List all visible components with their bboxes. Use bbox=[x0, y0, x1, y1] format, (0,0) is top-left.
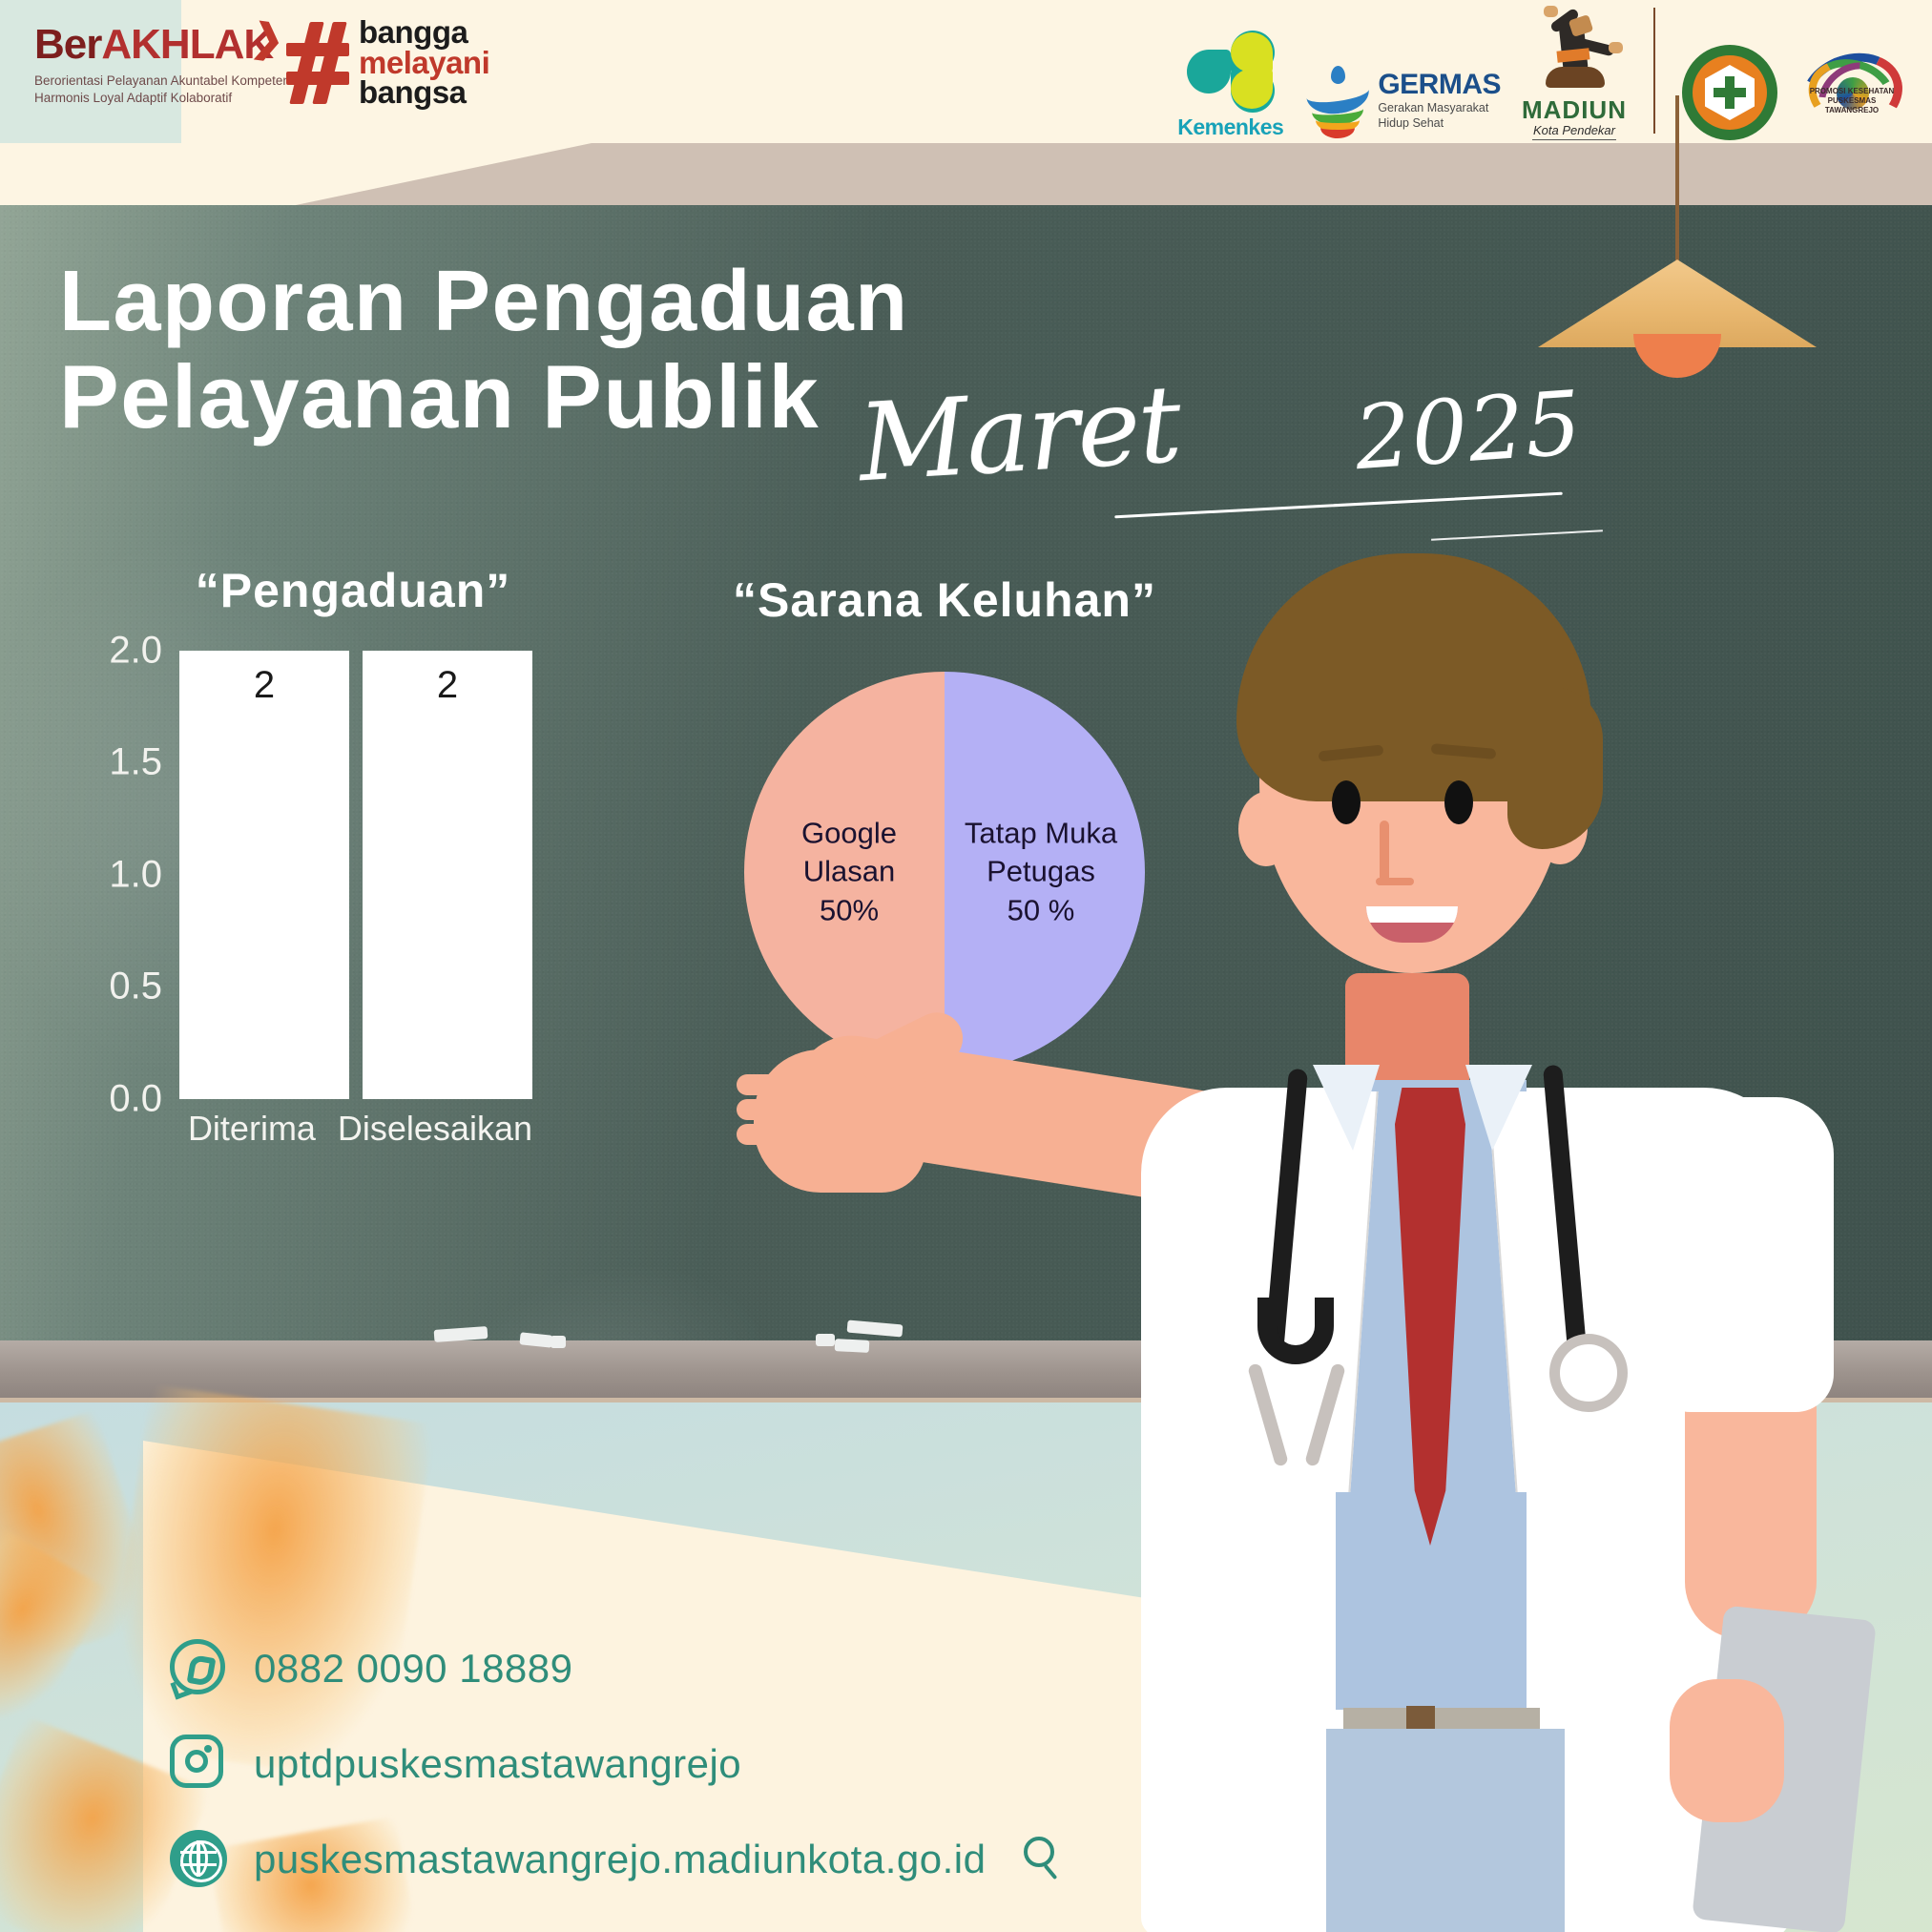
madiun-title: MADIUN bbox=[1522, 95, 1627, 125]
pie-label-line2: Ulasan bbox=[765, 853, 933, 891]
doctor-nose-base bbox=[1376, 878, 1414, 885]
chalk-piece bbox=[835, 1339, 870, 1353]
bar-column-diterima: 2 bbox=[179, 651, 349, 1099]
pendekar-figure-icon bbox=[1528, 8, 1620, 99]
promkes-line1: PROMOSI KESEHATAN bbox=[1806, 87, 1898, 96]
bar-chart-y-axis: 2.0 1.5 1.0 0.5 0.0 bbox=[86, 651, 170, 1099]
contact-row-whatsapp[interactable]: 0882 0090 18889 bbox=[170, 1639, 1070, 1698]
germas-sub-line2: Hidup Sehat bbox=[1378, 116, 1501, 132]
y-tick-label: 1.0 bbox=[109, 854, 162, 897]
doctor-eye-right bbox=[1444, 780, 1473, 824]
bar-rect bbox=[363, 651, 532, 1099]
y-tick-label: 0.5 bbox=[109, 966, 162, 1008]
hashtag-icon bbox=[286, 22, 349, 104]
berakhlak-logo: BerAKHLAK ❯ Berorientasi Pelayanan Akunt… bbox=[34, 21, 290, 107]
title-line-2: Pelayanan Publik bbox=[59, 348, 1395, 446]
madiun-sub: Kota Pendekar bbox=[1533, 123, 1615, 137]
madiun-logo: MADIUN Kota Pendekar bbox=[1522, 8, 1627, 140]
bangga-line3: bangsa bbox=[359, 77, 489, 108]
partner-logo-row: Kemenkes GERMAS Gerakan Masyarakat Hidup… bbox=[1177, 8, 1905, 140]
doctor-hand-right bbox=[1670, 1679, 1784, 1822]
bangga-line2: melayani bbox=[359, 48, 489, 78]
germas-logo: GERMAS Gerakan Masyarakat Hidup Sehat bbox=[1304, 62, 1501, 140]
contact-row-instagram[interactable]: uptdpuskesmastawangrejo bbox=[170, 1735, 1070, 1794]
doctor-trousers bbox=[1326, 1729, 1565, 1932]
kemenkes-icon bbox=[1187, 31, 1275, 113]
germas-wordmark: GERMAS Gerakan Masyarakat Hidup Sehat bbox=[1378, 71, 1501, 131]
pie-slice-label-google-ulasan: Google Ulasan 50% bbox=[765, 815, 933, 930]
berakhlak-main: AKHLAK bbox=[101, 21, 273, 68]
chalk-piece bbox=[551, 1336, 566, 1348]
germas-icon bbox=[1304, 62, 1371, 140]
title-month: Maret bbox=[855, 363, 1183, 506]
bar-chart: “Pengaduan” 2.0 1.5 1.0 0.5 0.0 2 2 bbox=[86, 563, 620, 1099]
berakhlak-arrow-icon: ❯ bbox=[249, 15, 287, 63]
doctor-illustration bbox=[1040, 534, 1932, 1932]
puskesmas-tawangrejo-seal bbox=[1682, 45, 1777, 140]
promkes-text: PROMOSI KESEHATAN PUSKESMAS TAWANGREJO bbox=[1806, 87, 1898, 115]
seal-inner-ring bbox=[1693, 55, 1767, 130]
bangga-wordmark: bangga melayani bangsa bbox=[359, 17, 489, 108]
germas-title: GERMAS bbox=[1378, 71, 1501, 99]
germas-sub-line1: Gerakan Masyarakat bbox=[1378, 101, 1501, 116]
berakhlak-tagline-line1: Berorientasi Pelayanan Akuntabel Kompete… bbox=[34, 73, 290, 90]
contact-info-block: 0882 0090 18889 uptdpuskesmastawangrejo … bbox=[170, 1639, 1070, 1925]
bangga-line1: bangga bbox=[359, 17, 489, 48]
doctor-nose bbox=[1380, 821, 1389, 883]
bar-value-label: 2 bbox=[363, 664, 532, 707]
promkes-icon: PROMOSI KESEHATAN PUSKESMAS TAWANGREJO bbox=[1798, 49, 1905, 140]
instagram-handle[interactable]: uptdpuskesmastawangrejo bbox=[254, 1741, 741, 1787]
berakhlak-tagline: Berorientasi Pelayanan Akuntabel Kompete… bbox=[34, 73, 290, 107]
bar-value-label: 2 bbox=[179, 664, 349, 707]
berakhlak-tagline-line2: Harmonis Loyal Adaptif Kolaboratif bbox=[34, 90, 290, 107]
promosi-kesehatan-logo: PROMOSI KESEHATAN PUSKESMAS TAWANGREJO bbox=[1798, 49, 1905, 140]
logo-divider bbox=[1653, 8, 1655, 134]
seal-hexagon bbox=[1705, 65, 1755, 120]
bar-chart-plot: 2.0 1.5 1.0 0.5 0.0 2 2 Diterima Diseles… bbox=[86, 651, 544, 1099]
title-year: 2025 bbox=[1352, 372, 1586, 489]
lamp-cord bbox=[1675, 95, 1679, 267]
bar-chart-x-axis: Diterima Diselesaikan bbox=[179, 1109, 532, 1149]
doctor-eye-left bbox=[1332, 780, 1361, 824]
website-url[interactable]: puskesmastawangrejo.madiunkota.go.id bbox=[254, 1837, 986, 1882]
doctor-hair-side bbox=[1507, 687, 1603, 849]
doctor-coat-sleeve-right bbox=[1652, 1097, 1834, 1412]
y-tick-label: 1.5 bbox=[109, 741, 162, 784]
whatsapp-number[interactable]: 0882 0090 18889 bbox=[254, 1646, 573, 1692]
instagram-icon bbox=[170, 1735, 229, 1794]
whatsapp-icon bbox=[170, 1639, 229, 1698]
y-tick-label: 2.0 bbox=[109, 630, 162, 673]
bar-chart-bars: 2 2 bbox=[179, 651, 532, 1099]
header-logo-bar: BerAKHLAK ❯ Berorientasi Pelayanan Akunt… bbox=[0, 0, 1932, 148]
title-line-1: Laporan Pengaduan bbox=[59, 256, 1395, 348]
bar-rect bbox=[179, 651, 349, 1099]
kemenkes-label: Kemenkes bbox=[1177, 114, 1283, 140]
page-title: Laporan Pengaduan Pelayanan Publik bbox=[59, 256, 1395, 446]
pie-label-value: 50% bbox=[765, 891, 933, 929]
medical-cross-icon bbox=[1714, 76, 1746, 109]
search-icon[interactable] bbox=[1024, 1837, 1070, 1882]
madiun-underline bbox=[1532, 139, 1616, 140]
bar-column-diselesaikan: 2 bbox=[363, 651, 532, 1099]
bar-chart-title: “Pengaduan” bbox=[86, 563, 620, 618]
globe-icon bbox=[170, 1830, 229, 1889]
x-tick-label: Diselesaikan bbox=[338, 1109, 532, 1149]
pie-label-line1: Google bbox=[765, 815, 933, 853]
contact-row-website[interactable]: puskesmastawangrejo.madiunkota.go.id bbox=[170, 1830, 1070, 1889]
bangga-melayani-bangsa-logo: bangga melayani bangsa bbox=[286, 17, 489, 108]
x-tick-label: Diterima bbox=[179, 1109, 324, 1149]
stethoscope-chestpiece bbox=[1549, 1334, 1628, 1412]
germas-sub: Gerakan Masyarakat Hidup Sehat bbox=[1378, 101, 1501, 131]
chalk-piece bbox=[816, 1334, 835, 1346]
infographic-poster: BerAKHLAK ❯ Berorientasi Pelayanan Akunt… bbox=[0, 0, 1932, 1932]
y-tick-label: 0.0 bbox=[109, 1078, 162, 1121]
seal-icon bbox=[1682, 45, 1777, 140]
kemenkes-logo: Kemenkes bbox=[1177, 31, 1283, 140]
promkes-line2: PUSKESMAS TAWANGREJO bbox=[1806, 96, 1898, 115]
berakhlak-prefix: Ber bbox=[34, 21, 101, 68]
